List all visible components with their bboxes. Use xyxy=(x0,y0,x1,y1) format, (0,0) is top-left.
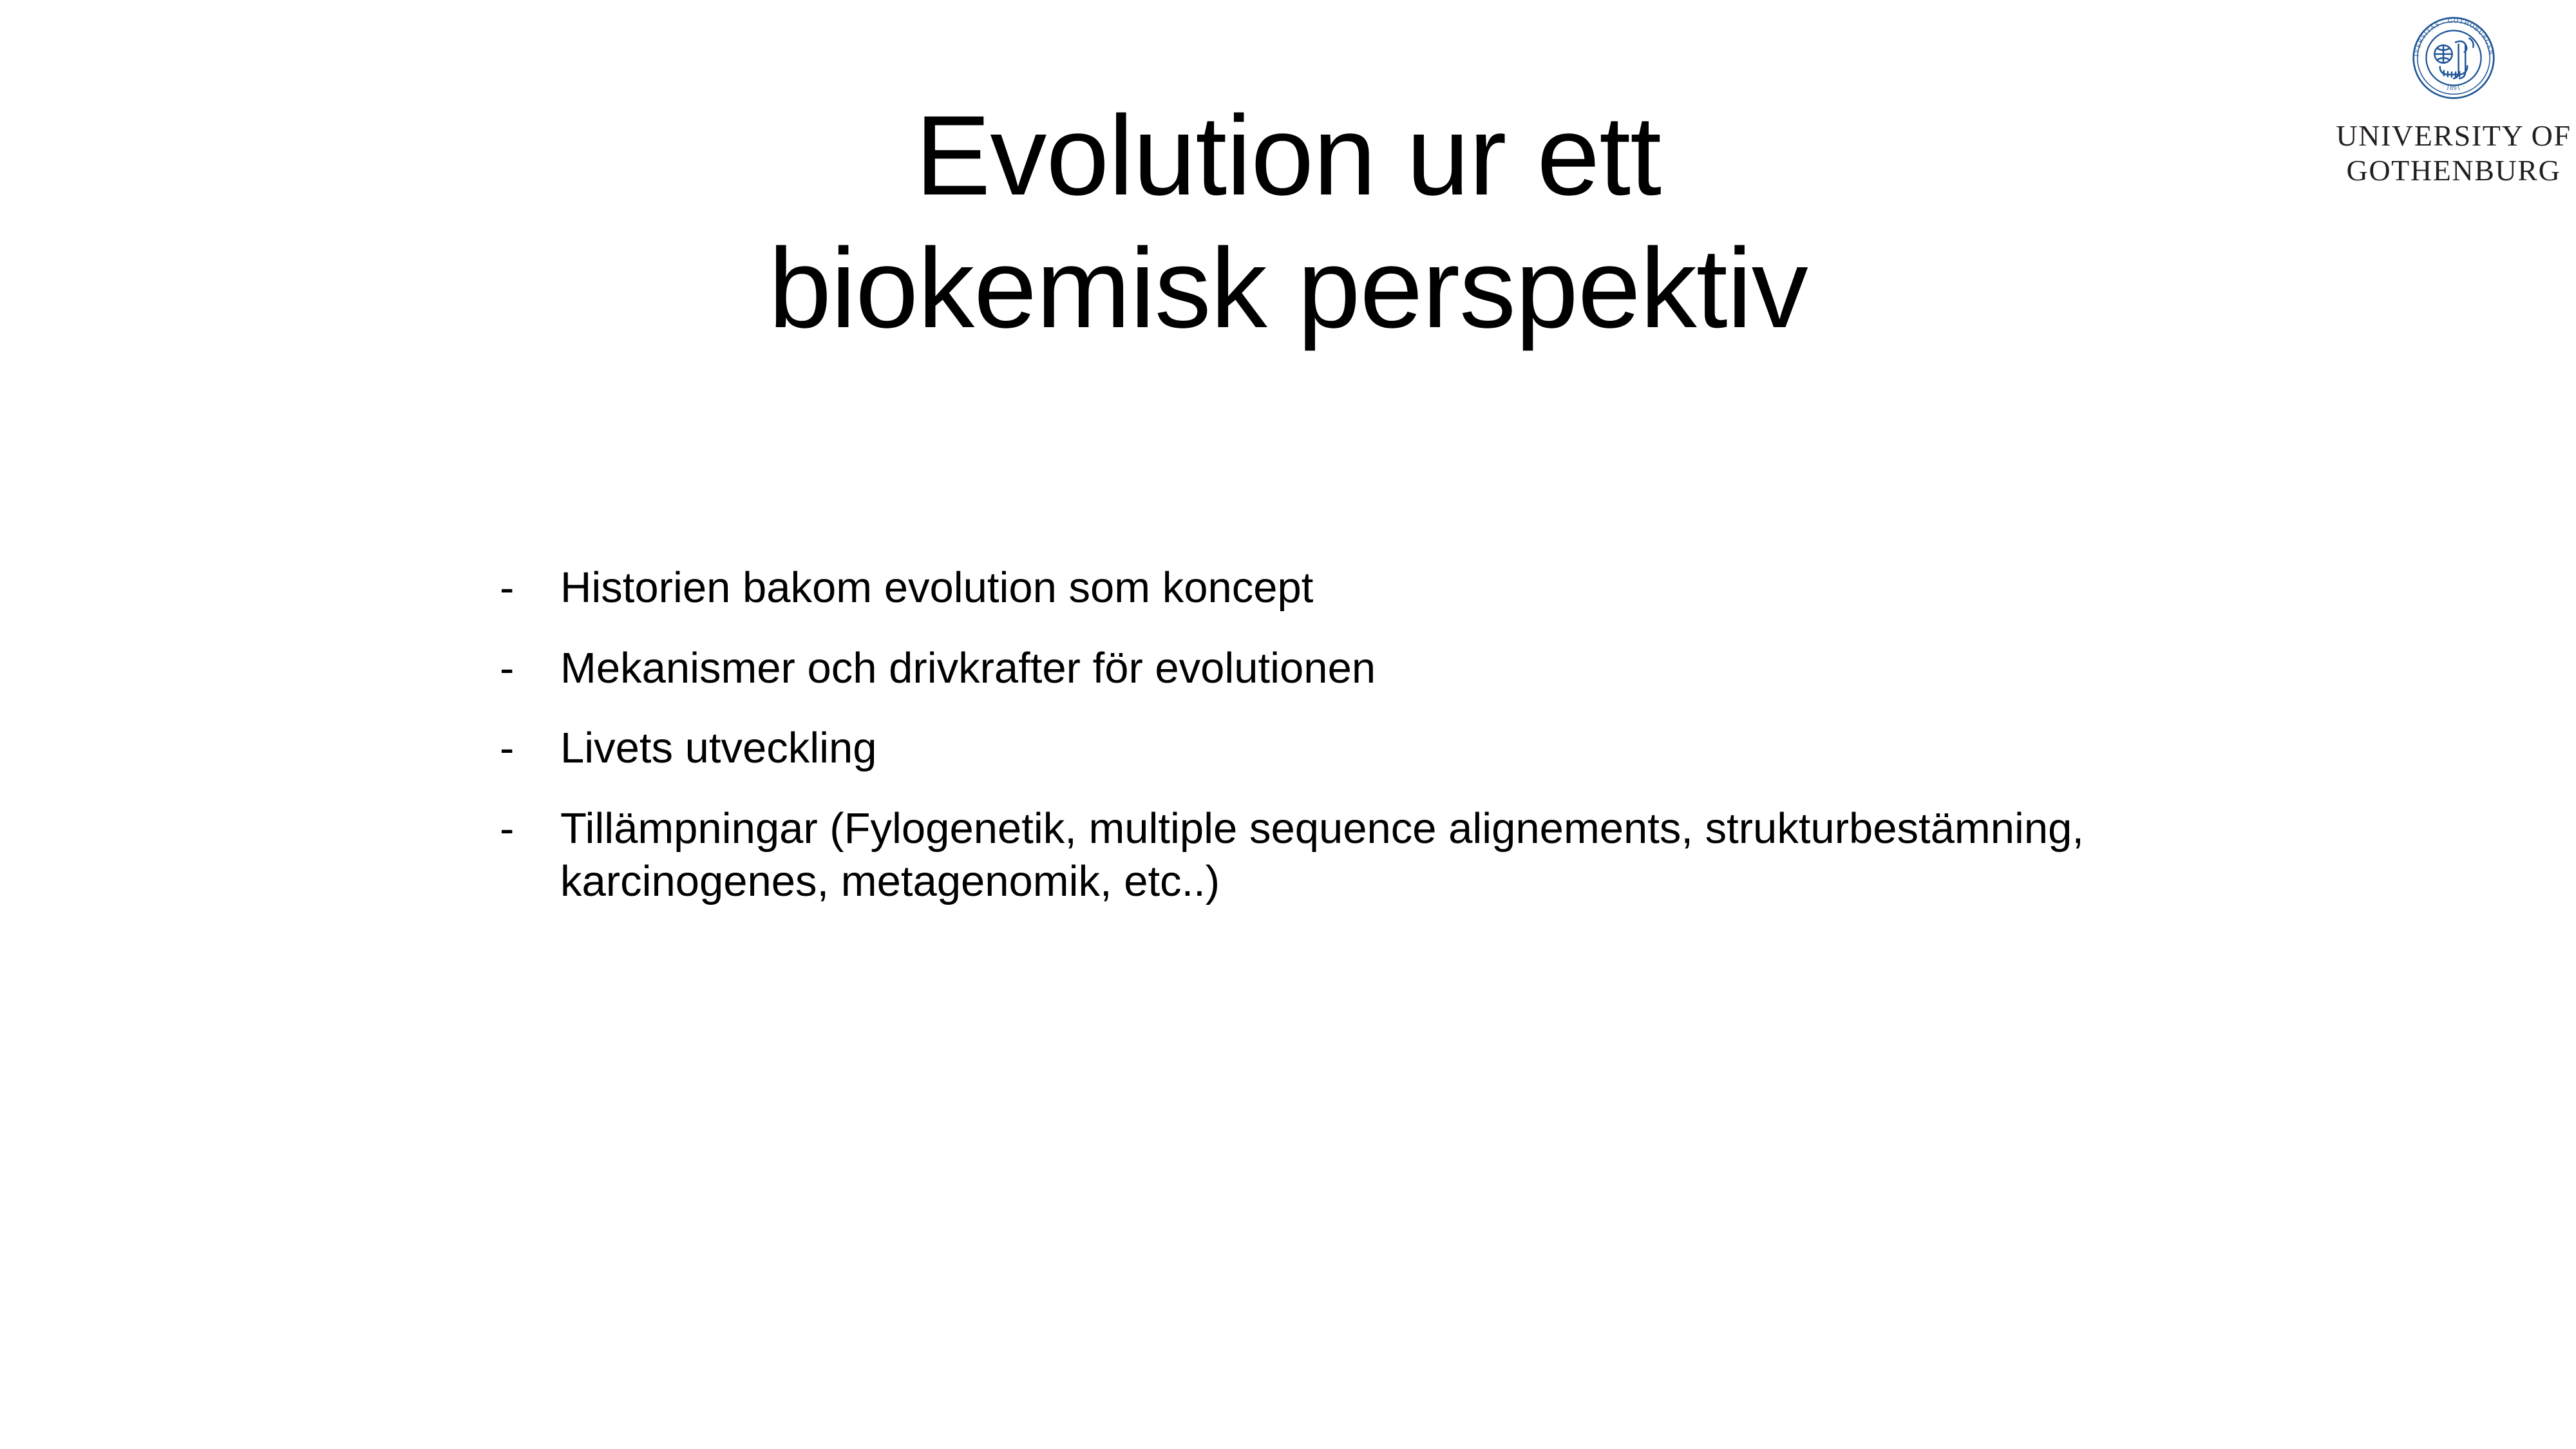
bullet-marker-icon: - xyxy=(500,802,560,855)
svg-text:UNIVERSITAS · GOTHOBURGENSIS: UNIVERSITAS · GOTHOBURGENSIS xyxy=(2405,9,2494,57)
slide-canvas: UNIVERSITAS · GOTHOBURGENSIS · 1891 · xyxy=(0,0,2576,1449)
slide-title: Evolution ur ett biokemisk perspektiv xyxy=(193,90,2383,355)
bullet-marker-icon: - xyxy=(500,722,560,775)
slide-title-line-1: Evolution ur ett xyxy=(193,90,2383,223)
slide-bullet-list: - Historien bakom evolution som koncept … xyxy=(500,562,2277,908)
bullet-text-3: Livets utveckling xyxy=(560,722,2277,775)
list-item: - Historien bakom evolution som koncept xyxy=(500,562,2277,614)
list-item: - Mekanismer och drivkrafter för evoluti… xyxy=(500,642,2277,695)
university-seal-icon: UNIVERSITAS · GOTHOBURGENSIS · 1891 · xyxy=(2405,9,2503,107)
slide-title-line-2: biokemisk perspektiv xyxy=(193,223,2383,355)
bullet-text-2: Mekanismer och drivkrafter för evolution… xyxy=(560,642,2277,695)
list-item: - Tillämpningar (Fylogenetik, multiple s… xyxy=(500,802,2277,907)
bullet-marker-icon: - xyxy=(500,562,560,614)
list-item: - Livets utveckling xyxy=(500,722,2277,775)
bullet-marker-icon: - xyxy=(500,642,560,695)
svg-text:· 1891 ·: · 1891 · xyxy=(2441,83,2467,92)
bullet-text-4: Tillämpningar (Fylogenetik, multiple seq… xyxy=(560,802,2277,907)
bullet-text-1: Historien bakom evolution som koncept xyxy=(560,562,2277,614)
